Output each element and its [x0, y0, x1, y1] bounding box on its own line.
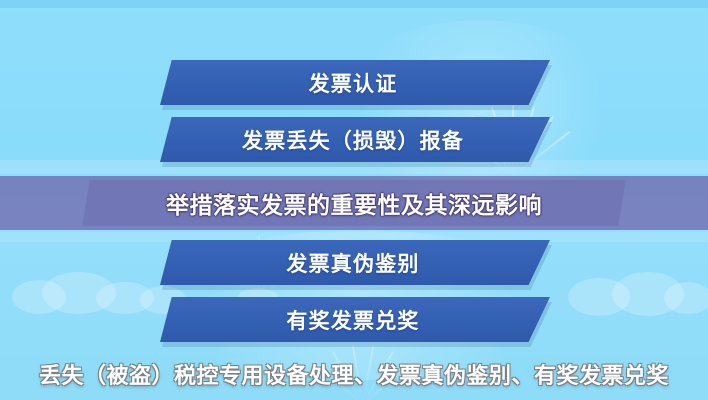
bottom-caption: 丢失（被盗）税控专用设备处理、发票真伪鉴别、有奖发票兑奖	[0, 358, 708, 390]
banner-label: 发票丢失（损毁）报备	[242, 125, 464, 155]
banner-label: 发票真伪鉴别	[286, 248, 419, 278]
banner-item[interactable]: 发票认证	[160, 60, 550, 105]
banner-label: 有奖发票兑奖	[286, 305, 419, 335]
banner-item[interactable]: 发票真伪鉴别	[160, 240, 550, 285]
poster-canvas: 发票认证 发票丢失（损毁）报备 发票真伪鉴别 有奖发票兑奖 举措落实发票的重要性…	[0, 0, 708, 400]
headline-band: 举措落实发票的重要性及其深远影响	[0, 176, 708, 230]
headline-text: 举措落实发票的重要性及其深远影响	[166, 186, 542, 220]
banner-label: 发票认证	[309, 68, 398, 98]
banner-item[interactable]: 有奖发票兑奖	[160, 297, 550, 342]
banner-item[interactable]: 发票丢失（损毁）报备	[160, 117, 550, 162]
cloud-icon-right-3	[664, 282, 708, 314]
